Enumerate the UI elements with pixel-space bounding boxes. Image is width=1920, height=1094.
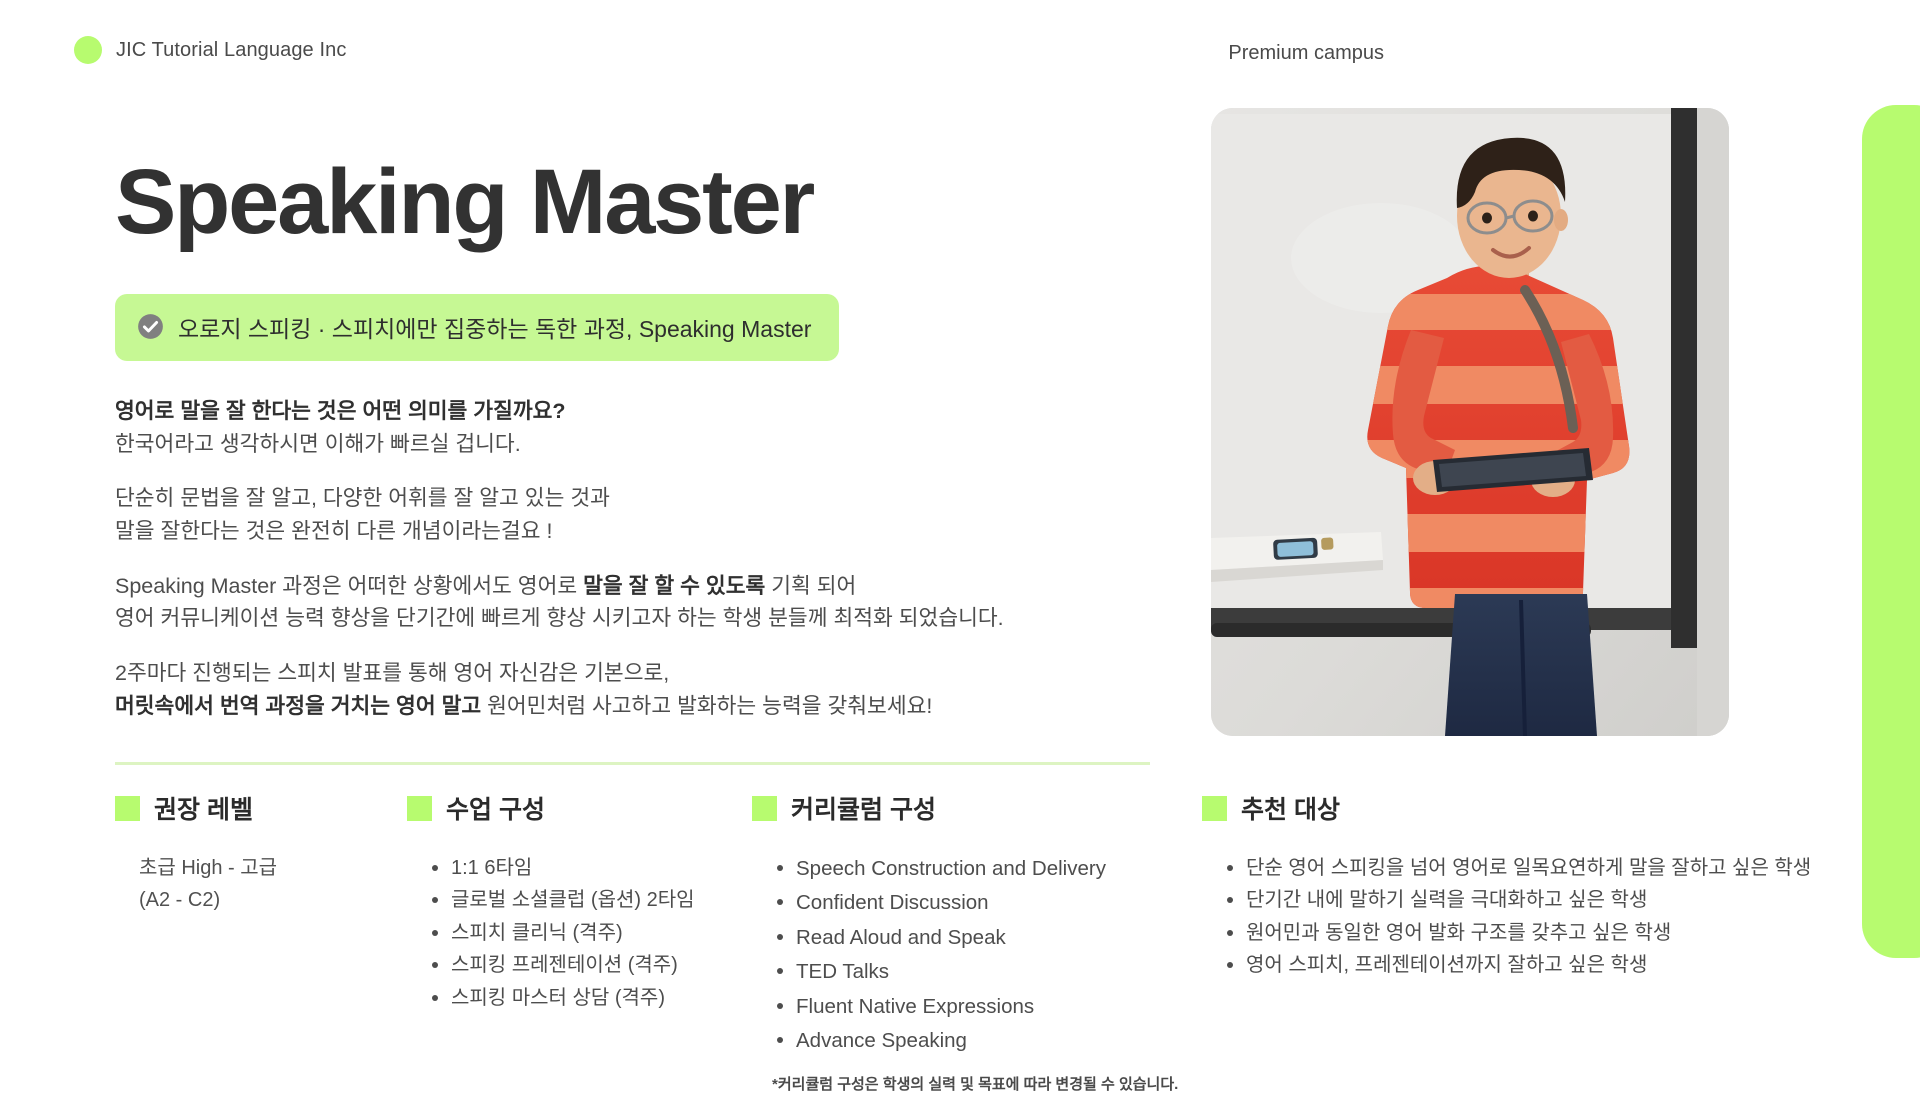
copy-paragraph: 영어로 말을 잘 한다는 것은 어떤 의미를 가질까요?한국어라고 생각하시면 …: [115, 395, 1155, 460]
check-circle-icon: [137, 313, 164, 340]
list-item: 스피킹 마스터 상담 (격주): [451, 982, 697, 1014]
info-column-curriculum: 커리큘럼 구성Speech Construction and DeliveryC…: [752, 790, 1152, 1094]
list-item: 원어민과 동일한 영어 발화 구조를 갖추고 싶은 학생: [1246, 917, 1822, 949]
copy-line: 2주마다 진행되는 스피치 발표를 통해 영어 자신감은 기본으로,: [115, 657, 1155, 690]
site-header: JIC Tutorial Language Inc Premium campus: [0, 0, 1920, 108]
instructor-photo: [1211, 108, 1729, 736]
list-item: Fluent Native Expressions: [796, 990, 1152, 1024]
list-item: 단기간 내에 말하기 실력을 극대화하고 싶은 학생: [1246, 884, 1822, 916]
green-square-bullet-icon: [752, 796, 777, 821]
info-column-heading: 권장 레벨: [115, 790, 365, 826]
list-item: 스피킹 프레젠테이션 (격주): [451, 949, 697, 981]
copy-paragraph: Speaking Master 과정은 어떠한 상황에서도 영어로 말을 잘 할…: [115, 570, 1155, 635]
hero-left-column: Speaking Master 오로지 스피킹 · 스피치에만 집중하는 독한 …: [115, 108, 1155, 722]
green-circle-logo-icon: [74, 36, 102, 64]
info-column-title: 수업 구성: [446, 790, 545, 826]
info-column-heading: 커리큘럼 구성: [752, 790, 1152, 826]
section-divider: [115, 762, 1150, 765]
copy-line: 영어로 말을 잘 한다는 것은 어떤 의미를 가질까요?: [115, 395, 1155, 428]
list-item: Read Aloud and Speak: [796, 921, 1152, 955]
copy-line: 말을 잘한다는 것은 완전히 다른 개념이라는걸요 !: [115, 515, 1155, 548]
hero-body-copy: 영어로 말을 잘 한다는 것은 어떤 의미를 가질까요?한국어라고 생각하시면 …: [115, 395, 1155, 722]
info-bullet-list: 단순 영어 스피킹을 넘어 영어로 일목요연하게 말을 잘하고 싶은 학생단기간…: [1202, 852, 1822, 982]
info-column-title: 추천 대상: [1241, 790, 1340, 826]
list-item: Speech Construction and Delivery: [796, 852, 1152, 886]
info-column-audience: 추천 대상단순 영어 스피킹을 넘어 영어로 일목요연하게 말을 잘하고 싶은 …: [1202, 790, 1822, 982]
info-line: (A2 - C2): [139, 884, 365, 916]
info-bullet-list: Speech Construction and DeliveryConfiden…: [752, 852, 1152, 1059]
highlight-banner-text: 오로지 스피킹 · 스피치에만 집중하는 독한 과정, Speaking Mas…: [178, 310, 811, 344]
info-column-title: 권장 레벨: [154, 790, 253, 826]
brand-name: JIC Tutorial Language Inc: [116, 39, 346, 62]
info-line: 초급 High - 고급: [139, 852, 365, 884]
copy-line: 영어 커뮤니케이션 능력 향상을 단기간에 빠르게 향상 시키고자 하는 학생 …: [115, 602, 1155, 635]
list-item: 스피치 클리닉 (격주): [451, 917, 697, 949]
info-plain-list: 초급 High - 고급(A2 - C2): [115, 852, 365, 917]
copy-line: 단순히 문법을 잘 알고, 다양한 어휘를 잘 알고 있는 것과: [115, 482, 1155, 515]
info-column-heading: 수업 구성: [407, 790, 697, 826]
info-column-class_structure: 수업 구성1:1 6타임글로벌 소셜클럽 (옵션) 2타임스피치 클리닉 (격주…: [407, 790, 697, 1014]
curriculum-footnote: *커리큘럼 구성은 학생의 실력 및 목표에 따라 변경될 수 있습니다.: [752, 1073, 1152, 1094]
page-title: Speaking Master: [115, 108, 1155, 250]
instructor-photo-illustration: [1211, 108, 1729, 736]
list-item: 영어 스피치, 프레젠테이션까지 잘하고 싶은 학생: [1246, 949, 1822, 981]
campus-tag: Premium campus: [1228, 42, 1384, 65]
list-item: 1:1 6타임: [451, 852, 697, 884]
copy-line: 머릿속에서 번역 과정을 거치는 영어 말고 원어민처럼 사고하고 발화하는 능…: [115, 690, 1155, 723]
info-bullet-list: 1:1 6타임글로벌 소셜클럽 (옵션) 2타임스피치 클리닉 (격주)스피킹 …: [407, 852, 697, 1014]
copy-line: Speaking Master 과정은 어떠한 상황에서도 영어로 말을 잘 할…: [115, 570, 1155, 603]
green-square-bullet-icon: [1202, 796, 1227, 821]
copy-paragraph: 2주마다 진행되는 스피치 발표를 통해 영어 자신감은 기본으로,머릿속에서 …: [115, 657, 1155, 722]
list-item: TED Talks: [796, 955, 1152, 989]
info-column-heading: 추천 대상: [1202, 790, 1822, 826]
list-item: 글로벌 소셜클럽 (옵션) 2타임: [451, 884, 697, 916]
info-column-level: 권장 레벨초급 High - 고급(A2 - C2): [115, 790, 365, 917]
brand-logo[interactable]: JIC Tutorial Language Inc: [74, 36, 346, 64]
green-square-bullet-icon: [115, 796, 140, 821]
info-column-title: 커리큘럼 구성: [791, 790, 936, 826]
hero-section: Speaking Master 오로지 스피킹 · 스피치에만 집중하는 독한 …: [0, 108, 1920, 758]
emphasis-text: 머릿속에서 번역 과정을 거치는 영어 말고: [115, 694, 481, 718]
list-item: Confident Discussion: [796, 886, 1152, 920]
green-square-bullet-icon: [407, 796, 432, 821]
emphasis-text: 말을 잘 할 수 있도록: [583, 574, 765, 598]
list-item: Advance Speaking: [796, 1024, 1152, 1058]
list-item: 단순 영어 스피킹을 넘어 영어로 일목요연하게 말을 잘하고 싶은 학생: [1246, 852, 1822, 884]
copy-paragraph: 단순히 문법을 잘 알고, 다양한 어휘를 잘 알고 있는 것과말을 잘한다는 …: [115, 482, 1155, 547]
highlight-banner: 오로지 스피킹 · 스피치에만 집중하는 독한 과정, Speaking Mas…: [115, 294, 839, 361]
copy-line: 한국어라고 생각하시면 이해가 빠르실 겁니다.: [115, 428, 1155, 461]
